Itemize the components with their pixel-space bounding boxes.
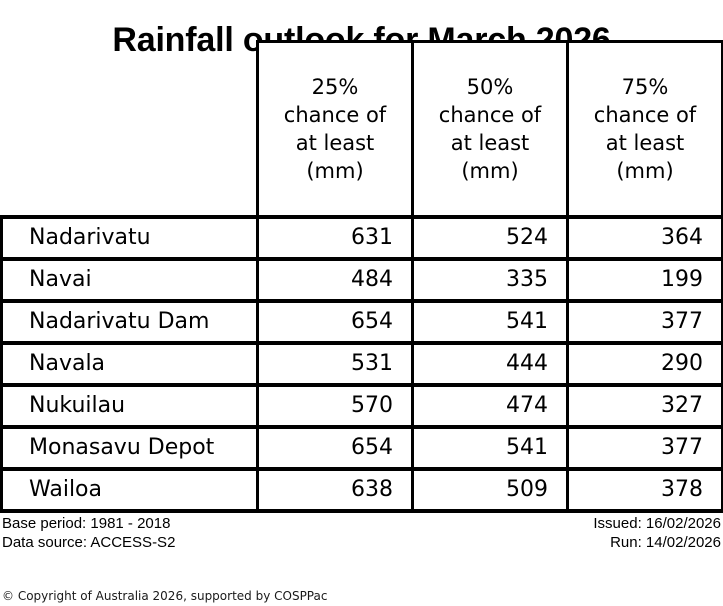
table-row: Navai 484 335 199 bbox=[2, 259, 723, 301]
value-p75: 377 bbox=[568, 301, 723, 343]
column-header-p75: 75% chance of at least (mm) bbox=[568, 42, 723, 218]
location-name: Nadarivatu Dam bbox=[2, 301, 258, 343]
value-p50: 524 bbox=[413, 217, 568, 259]
location-name: Monasavu Depot bbox=[2, 427, 258, 469]
value-p75: 378 bbox=[568, 469, 723, 511]
location-name: Wailoa bbox=[2, 469, 258, 511]
value-p75: 199 bbox=[568, 259, 723, 301]
value-p50: 444 bbox=[413, 343, 568, 385]
rainfall-outlook-table: 25% chance of at least (mm) 50% chance o… bbox=[0, 40, 723, 513]
table-header: 25% chance of at least (mm) 50% chance o… bbox=[2, 42, 723, 218]
table-row: Nukuilau 570 474 327 bbox=[2, 385, 723, 427]
value-p75: 364 bbox=[568, 217, 723, 259]
value-p25: 638 bbox=[258, 469, 413, 511]
header-corner-blank bbox=[2, 42, 258, 218]
base-period-text: Base period: 1981 - 2018 bbox=[2, 514, 175, 533]
value-p75: 290 bbox=[568, 343, 723, 385]
issued-date-text: Issued: 16/02/2026 bbox=[593, 514, 721, 533]
footer: Base period: 1981 - 2018 Data source: AC… bbox=[0, 514, 723, 558]
table-row: Navala 531 444 290 bbox=[2, 343, 723, 385]
copyright-text: © Copyright of Australia 2026, supported… bbox=[2, 589, 327, 604]
column-header-p50-line4: (mm) bbox=[418, 157, 562, 185]
location-name: Navai bbox=[2, 259, 258, 301]
table-body: Nadarivatu 631 524 364 Navai 484 335 199… bbox=[2, 217, 723, 511]
column-header-p25-line4: (mm) bbox=[263, 157, 407, 185]
column-header-p75-line4: (mm) bbox=[573, 157, 717, 185]
footer-right: Issued: 16/02/2026 Run: 14/02/2026 bbox=[593, 514, 721, 552]
column-header-p25-line3: at least bbox=[263, 129, 407, 157]
table-row: Nadarivatu 631 524 364 bbox=[2, 217, 723, 259]
table-row: Monasavu Depot 654 541 377 bbox=[2, 427, 723, 469]
value-p25: 484 bbox=[258, 259, 413, 301]
value-p50: 509 bbox=[413, 469, 568, 511]
table-row: Nadarivatu Dam 654 541 377 bbox=[2, 301, 723, 343]
column-header-p50: 50% chance of at least (mm) bbox=[413, 42, 568, 218]
location-name: Nukuilau bbox=[2, 385, 258, 427]
column-header-p50-line1: 50% bbox=[418, 73, 562, 101]
column-header-p75-line2: chance of bbox=[573, 101, 717, 129]
value-p50: 335 bbox=[413, 259, 568, 301]
column-header-p25: 25% chance of at least (mm) bbox=[258, 42, 413, 218]
column-header-p75-line3: at least bbox=[573, 129, 717, 157]
location-name: Navala bbox=[2, 343, 258, 385]
data-source-text: Data source: ACCESS-S2 bbox=[2, 533, 175, 552]
value-p50: 541 bbox=[413, 427, 568, 469]
run-date-text: Run: 14/02/2026 bbox=[593, 533, 721, 552]
value-p75: 377 bbox=[568, 427, 723, 469]
value-p25: 654 bbox=[258, 301, 413, 343]
column-header-p50-line2: chance of bbox=[418, 101, 562, 129]
column-header-p25-line2: chance of bbox=[263, 101, 407, 129]
value-p75: 327 bbox=[568, 385, 723, 427]
value-p50: 541 bbox=[413, 301, 568, 343]
value-p25: 631 bbox=[258, 217, 413, 259]
column-header-p75-line1: 75% bbox=[573, 73, 717, 101]
value-p25: 570 bbox=[258, 385, 413, 427]
value-p25: 531 bbox=[258, 343, 413, 385]
value-p25: 654 bbox=[258, 427, 413, 469]
location-name: Nadarivatu bbox=[2, 217, 258, 259]
table-row: Wailoa 638 509 378 bbox=[2, 469, 723, 511]
table-header-row: 25% chance of at least (mm) 50% chance o… bbox=[2, 42, 723, 218]
value-p50: 474 bbox=[413, 385, 568, 427]
footer-left: Base period: 1981 - 2018 Data source: AC… bbox=[2, 514, 175, 552]
column-header-p25-line1: 25% bbox=[263, 73, 407, 101]
column-header-p50-line3: at least bbox=[418, 129, 562, 157]
